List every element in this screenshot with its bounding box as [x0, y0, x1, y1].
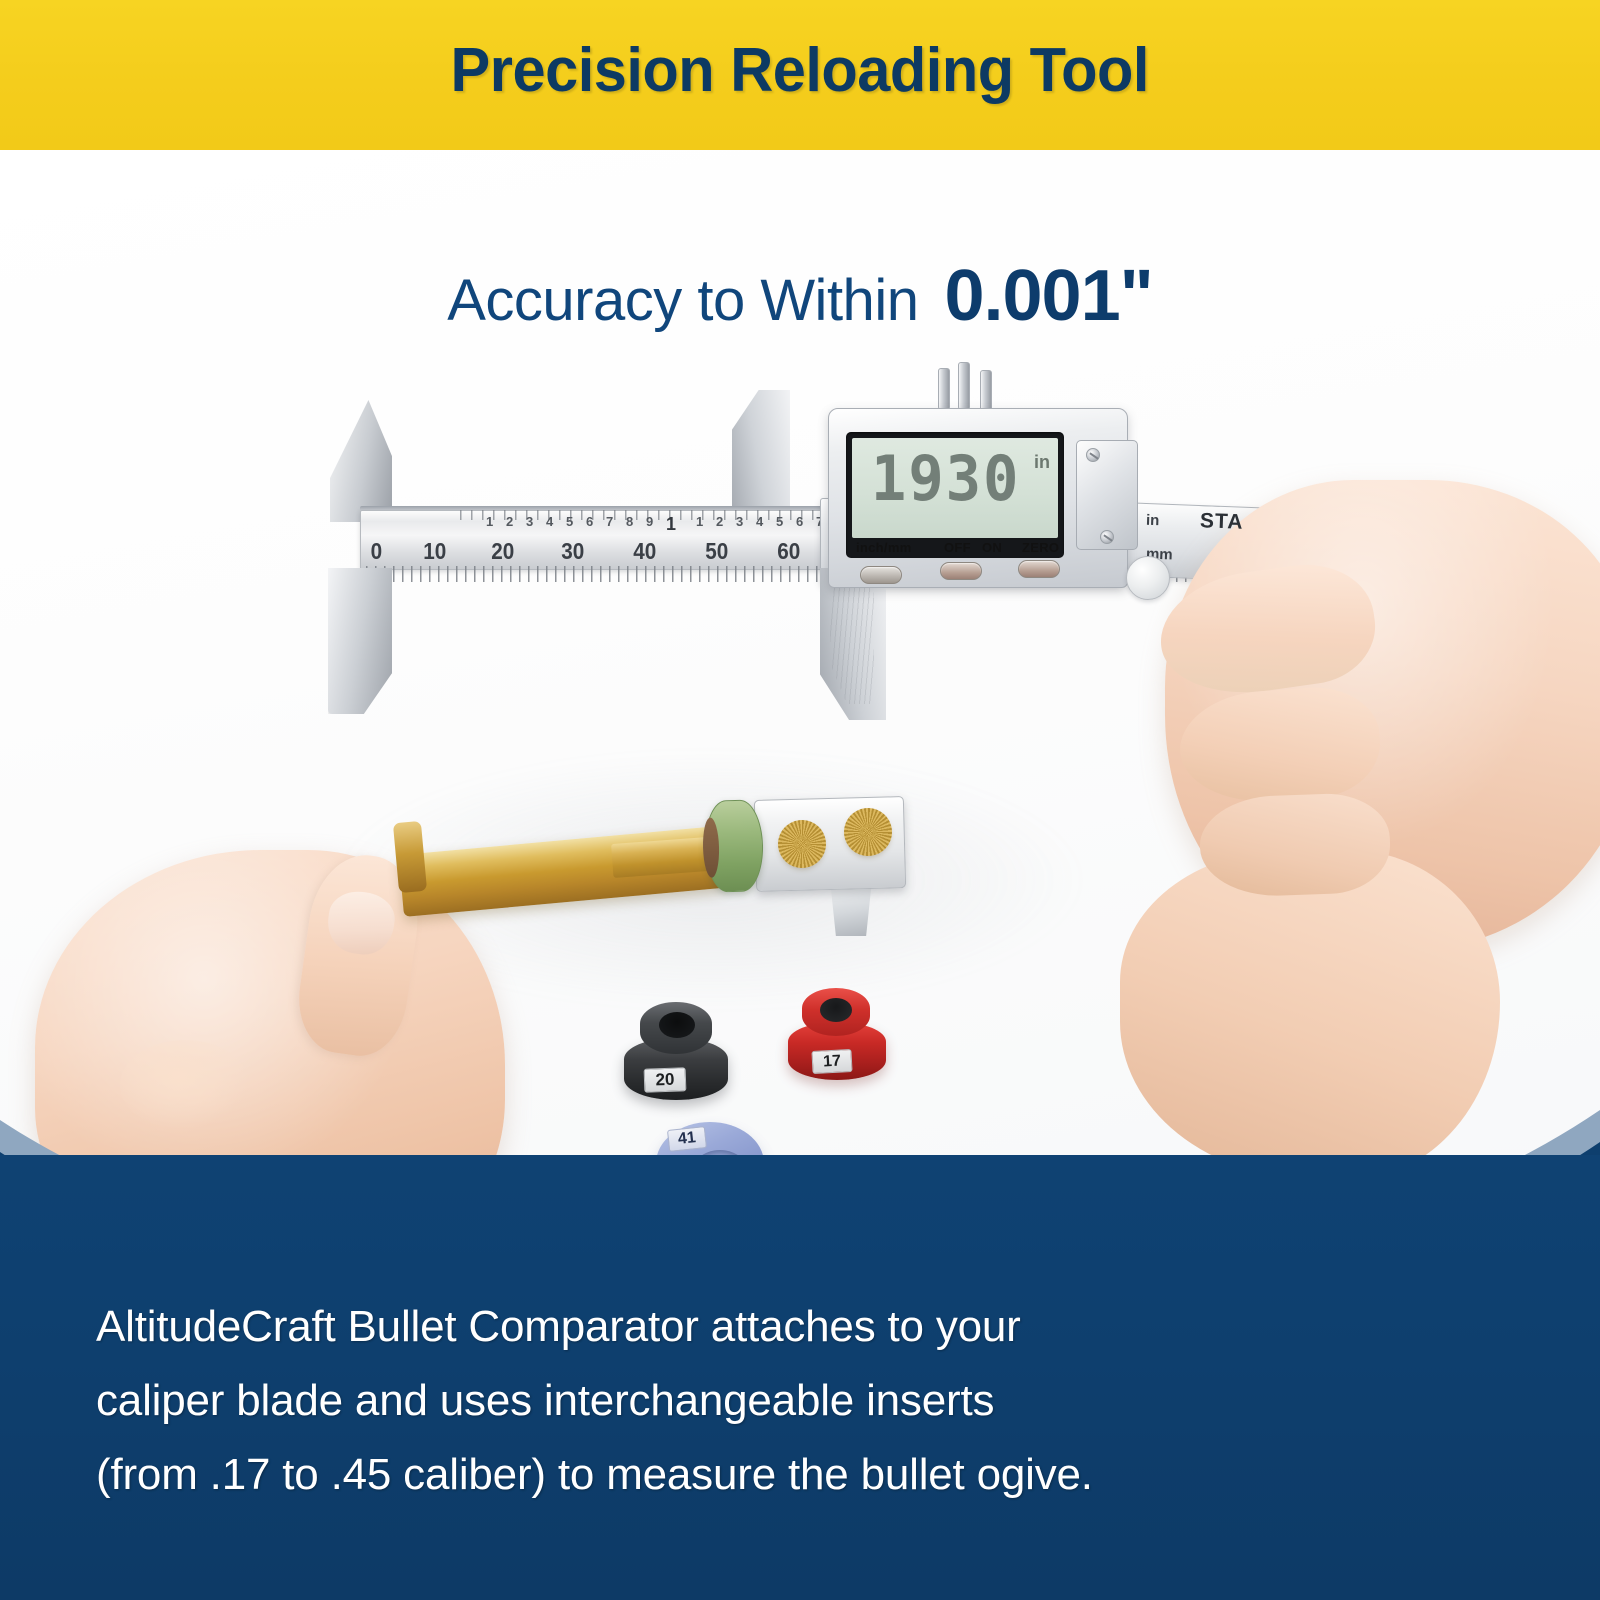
mm-tick-30: 30 [561, 538, 584, 565]
inch-mm-button[interactable] [860, 566, 902, 584]
mm-tick-50: 50 [705, 538, 728, 565]
lcd-reading: 1930 [871, 448, 1020, 510]
green-comparator-insert [704, 799, 764, 892]
pin-icon [980, 370, 992, 412]
mm-tick-0: 0 [371, 538, 383, 565]
caliper-brand-text: STA [1200, 509, 1244, 535]
brass-thumb-screw-2[interactable] [846, 810, 890, 854]
description-line-2: caliper blade and uses interchangeable i… [96, 1364, 1504, 1438]
off-button-label: OFF [944, 540, 971, 555]
lcd-unit-indicator: in [1034, 452, 1050, 473]
caliper-upper-fixed-jaw [330, 400, 392, 522]
mm-tick-60: 60 [777, 538, 800, 565]
description-text: AltitudeCraft Bullet Comparator attaches… [0, 1290, 1600, 1512]
mm-tick-20: 20 [491, 538, 514, 565]
on-off-button[interactable] [940, 562, 982, 580]
black-insert-bore [659, 1012, 695, 1038]
right-hand-finger-3 [1198, 792, 1391, 899]
header-banner: Precision Reloading Tool [0, 0, 1600, 150]
lcd-screen: 1930 in [852, 438, 1058, 538]
inch-major-1: 1 [666, 514, 676, 535]
pin-icon [958, 362, 970, 410]
description-line-1: AltitudeCraft Bullet Comparator attaches… [96, 1290, 1504, 1364]
on-button-label: ON [982, 540, 1002, 555]
inch-mm-button-label: inch/mm [856, 540, 912, 555]
screw-icon [1086, 448, 1100, 462]
brass-thumb-screw-1[interactable] [780, 822, 824, 866]
caliper-lower-fixed-jaw [328, 568, 392, 714]
mm-tick-10: 10 [423, 538, 446, 565]
red-insert-bore [820, 998, 852, 1022]
zero-button[interactable] [1018, 560, 1060, 578]
mm-tick-40: 40 [633, 538, 656, 565]
caliper-button-labels: inch/mm OFF ON ZERO [856, 540, 1056, 558]
pin-icon [938, 368, 950, 410]
description-line-3: (from .17 to .45 caliber) to measure the… [96, 1438, 1504, 1512]
page-title: Precision Reloading Tool [451, 40, 1149, 102]
caliper-thumb-roller[interactable] [1126, 556, 1170, 600]
zero-button-label: ZERO [1022, 540, 1059, 555]
caliper-tail-inch-label: in [1146, 512, 1160, 529]
caliper-upper-sliding-jaw [732, 390, 790, 522]
screw-icon [1100, 530, 1114, 544]
